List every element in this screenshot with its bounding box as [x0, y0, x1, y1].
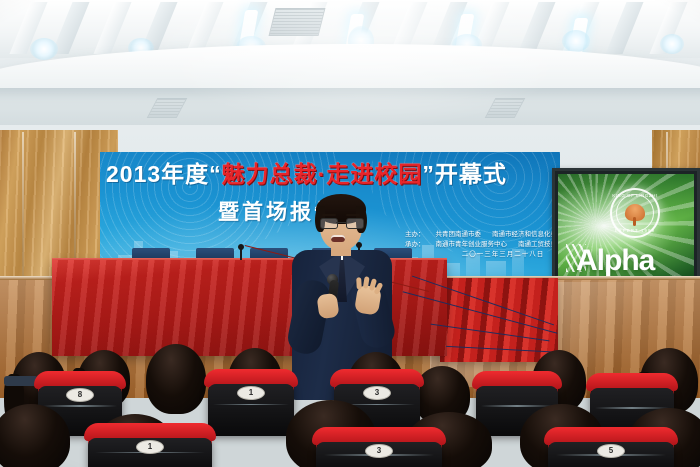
credits-host-org-1: 共青团南通市委 [436, 230, 482, 240]
ceiling-spot-light-6 [562, 30, 590, 52]
seat-front-1[interactable]: 1 [88, 434, 212, 467]
seat-number-badge: 1 [136, 440, 164, 454]
speaker-hand-holding-mic [316, 293, 339, 320]
seat-number-badge: 8 [66, 388, 94, 402]
speaker-eyeglasses [320, 218, 362, 227]
banner-year: 2013年度 [106, 161, 209, 187]
ceiling-spot-light-1 [30, 38, 58, 60]
ceiling-spot-light-7 [660, 34, 684, 54]
table-microphone-1 [240, 248, 242, 260]
ceiling-vent-right [485, 98, 526, 118]
seat-front-2[interactable]: 3 [316, 438, 442, 467]
banner-headline-main: 魅力总裁·走进校园 [222, 161, 423, 187]
projected-slide: KING OF LINGZHI EXPERT 1989 Alpha 安惠生物科技 [558, 174, 694, 287]
credits-organizer-org-1: 南通市青年创业服务中心 [436, 240, 508, 250]
projection-screen: KING OF LINGZHI EXPERT 1989 Alpha 安惠生物科技 [552, 168, 700, 293]
slide-brand-name: Alpha [576, 244, 654, 278]
credits-host-label: 主办： [405, 230, 425, 240]
banner-quote-open: “ [209, 161, 222, 187]
seat-number-badge: 3 [365, 444, 393, 458]
ceiling-vent-upper [269, 8, 326, 36]
banner-quote-close: ” [422, 161, 435, 187]
audience-head-b3 [146, 344, 206, 414]
audience-collar-b1 [4, 376, 38, 386]
seat-number-badge: 1 [237, 386, 265, 400]
ceiling [0, 0, 700, 135]
banner-headline: 2013年度“魅力总裁·走进校园”开幕式 [106, 157, 556, 191]
credits-host-org-2: 南通市经济和信息化委 [492, 230, 557, 240]
photograph-scene: 2013年度“魅力总裁·走进校园”开幕式 暨首场报告会 主办： 共青团南通市委 … [0, 0, 700, 467]
banner-credits: 主办： 共青团南通市委 南通市经济和信息化委 承办： 南通市青年创业服务中心 南… [405, 230, 560, 260]
speaker-mouth [331, 235, 345, 242]
seat-number-badge: 3 [363, 386, 391, 400]
banner-headline-tail: 开幕式 [435, 161, 507, 187]
emblem-top-text: KING OF LINGZHI [612, 193, 658, 198]
ceiling-vent-left [147, 98, 188, 118]
lingzhi-mushroom-icon [625, 204, 645, 221]
seat-number-badge: 5 [597, 444, 625, 458]
seat-front-3[interactable]: 5 [548, 438, 674, 467]
lingzhi-emblem-logo: KING OF LINGZHI EXPERT 1989 [610, 188, 660, 238]
emblem-bottom-text: EXPERT 1989 [612, 228, 658, 233]
seat-back-2[interactable]: 1 [208, 380, 294, 436]
